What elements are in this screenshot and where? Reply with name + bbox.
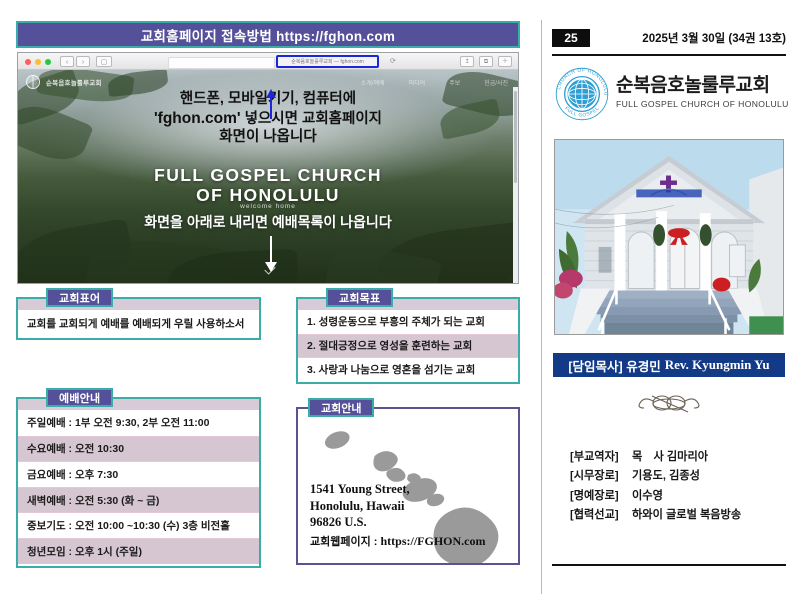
staff-row: [협력선교]하와이 글로벌 복음방송	[570, 506, 786, 525]
church-globe-logo-icon: CHURCH OF HONOLULU FULL GOSPEL	[554, 66, 610, 122]
nav-item[interactable]: 소개/예배	[361, 78, 385, 87]
goal-row: 2. 절대긍정으로 영성을 훈련하는 교회	[298, 334, 518, 358]
worship-row: 새벽예배 : 오전 5:30 (화 ~ 금)	[18, 487, 259, 513]
browser-scrollbar[interactable]	[513, 87, 518, 284]
nav-item[interactable]: 미디어	[409, 78, 426, 87]
worship-row: 금요예배 : 오후 7:30	[18, 461, 259, 487]
bulletin-page: 교회홈페이지 접속방법 https://fghon.com ‹ › ▢ 순복음호…	[0, 0, 792, 612]
senior-pastor-bar: [담임목사] 유경민Rev. Kyungmin Yu	[553, 353, 785, 377]
sidebar-icon[interactable]: ▢	[96, 56, 112, 67]
instruction-line-2-rest: 넣으시면 교회홈페이지	[241, 111, 382, 127]
maximize-traffic-light-icon[interactable]	[45, 59, 51, 65]
church-brand: CHURCH OF HONOLULU FULL GOSPEL 순복음호놀룰루교회…	[552, 64, 786, 122]
browser-screenshot: ‹ › ▢ 순복음호놀룰루교회 — fghon.com ⟳ ↥ ⧉ ＋	[17, 52, 519, 284]
senior-pastor-name-en: Rev. Kyungmin Yu	[665, 357, 770, 373]
instruction-line-3: 화면이 나옵니다	[18, 128, 518, 147]
church-motto-label-text: 교회표어	[59, 290, 100, 306]
bulletin-header: 25 2025년 3월 30일 (34권 13호)	[552, 29, 786, 49]
worship-row: 중보기도 : 오전 10:00 ~10:30 (수) 3층 비전홀	[18, 512, 259, 538]
url-text: 순복음호놀룰루교회 — fghon.com	[291, 58, 364, 65]
staff-name: 이수영	[632, 490, 663, 502]
worship-schedule-label-text: 예배안내	[59, 390, 100, 406]
church-building-photo	[554, 139, 784, 335]
header-rule	[552, 54, 786, 56]
footer-rule	[552, 564, 786, 566]
address-line-2: Honolulu, Hawaii	[310, 498, 410, 515]
worship-row: 주일예배 : 1부 오전 9:30, 2부 오전 11:00	[18, 410, 259, 436]
church-address: 1541 Young Street, Honolulu, Hawaii 9682…	[310, 481, 410, 531]
church-info-label: 교회안내	[308, 398, 374, 417]
worship-row: 청년모임 : 오후 1시 (주일)	[18, 538, 259, 564]
url-pointer-arrow-icon	[266, 89, 276, 119]
worship-schedule-label: 예배안내	[46, 388, 113, 407]
hero-scroll-note: 화면을 아래로 내리면 예배목록이 나옵니다	[18, 212, 518, 232]
staff-role: [협력선교]	[570, 506, 632, 525]
staff-role: [부교역자]	[570, 448, 632, 467]
church-brand-text: 순복음호놀룰루교회 FULL GOSPEL CHURCH OF HONOLULU	[616, 70, 789, 109]
staff-row: [시무장로]기용도, 김종성	[570, 467, 786, 486]
staff-row: [명예장로]이수영	[570, 487, 786, 506]
website-access-banner-text: 교회홈페이지 접속방법 https://fghon.com	[141, 25, 395, 45]
church-motto-rows: 교회를 교회되게 예배를 예배되게 우릴 사용하소서	[18, 310, 259, 338]
share-icon[interactable]: ↥	[460, 56, 474, 67]
church-website-line: 교회웹페이지 : https://FGHON.com	[310, 533, 486, 549]
church-name-english: FULL GOSPEL CHURCH OF HONOLULU	[616, 99, 789, 109]
website-logo-name: 순복음호놀룰루교회	[46, 77, 102, 87]
reload-icon[interactable]: ⟳	[390, 57, 396, 65]
church-info-label-text: 교회안내	[321, 400, 361, 416]
church-goals-box: 교회목표 1. 성령운동으로 부흥의 주체가 되는 교회 2. 절대긍정으로 영…	[296, 288, 520, 384]
staff-name: 목 사 김마리아	[632, 451, 708, 463]
browser-right-buttons: ↥ ⧉ ＋	[460, 56, 512, 67]
right-column: 25 2025년 3월 30일 (34권 13호)	[552, 0, 792, 612]
browser-chrome: ‹ › ▢ 순복음호놀룰루교회 — fghon.com ⟳ ↥ ⧉ ＋	[18, 53, 518, 70]
church-staff-list: [부교역자]목 사 김마리아 [시무장로]기용도, 김종성 [명예장로]이수영 …	[570, 448, 786, 525]
church-name-korean: 순복음호놀룰루교회	[616, 70, 789, 97]
issue-date: 2025년 3월 30일 (34권 13호)	[642, 30, 786, 46]
church-goals-rows: 1. 성령운동으로 부흥의 주체가 되는 교회 2. 절대긍정으로 영성을 훈련…	[298, 310, 518, 382]
worship-row: 수요예배 : 오전 10:30	[18, 436, 259, 462]
church-website-label: 교회웹페이지 :	[310, 536, 381, 548]
church-motto-box: 교회표어 교회를 교회되게 예배를 예배되게 우릴 사용하소서	[16, 288, 261, 340]
decorative-flourish-icon	[552, 392, 786, 418]
hero-welcome-text: welcome home	[18, 203, 518, 210]
new-tab-icon[interactable]: ＋	[498, 56, 512, 67]
worship-schedule-box: 예배안내 주일예배 : 1부 오전 9:30, 2부 오전 11:00 수요예배…	[16, 388, 261, 568]
left-column: 교회홈페이지 접속방법 https://fghon.com ‹ › ▢ 순복음호…	[0, 0, 536, 612]
website-nav: 순복음호놀룰루교회 소개/예배 미디어 주보 헌금/사진	[18, 74, 518, 90]
website-menu: 소개/예배 미디어 주보 헌금/사진	[361, 78, 508, 87]
minimize-traffic-light-icon[interactable]	[35, 59, 41, 65]
church-goals-label: 교회목표	[326, 288, 393, 307]
motto-row: 교회를 교회되게 예배를 예배되게 우릴 사용하소서	[18, 310, 259, 336]
address-line-3: 96826 U.S.	[310, 514, 410, 531]
worship-schedule-rows: 주일예배 : 1부 오전 9:30, 2부 오전 11:00 수요예배 : 오전…	[18, 410, 259, 566]
hero-church-title: FULL GOSPEL CHURCH OF HONOLULU	[18, 165, 518, 206]
church-website-url[interactable]: https://FGHON.com	[381, 534, 486, 548]
forward-icon[interactable]: ›	[76, 56, 90, 67]
page-number-text: 25	[564, 31, 577, 45]
goal-row: 3. 사랑과 나눔으로 영혼을 섬기는 교회	[298, 357, 518, 381]
column-divider	[541, 20, 542, 594]
staff-name: 기용도, 김종성	[632, 470, 700, 482]
nav-item[interactable]: 주보	[449, 78, 460, 87]
address-line-1: 1541 Young Street,	[310, 481, 410, 498]
url-address-bar[interactable]: 순복음호놀룰루교회 — fghon.com	[276, 55, 379, 68]
tabs-icon[interactable]: ⧉	[479, 56, 493, 67]
website-access-banner: 교회홈페이지 접속방법 https://fghon.com	[16, 21, 520, 48]
website-hero-section: 순복음호놀룰루교회 소개/예배 미디어 주보 헌금/사진 핸드폰, 모바일기기,…	[18, 70, 518, 284]
search-field[interactable]	[168, 57, 275, 69]
church-motto-label: 교회표어	[46, 288, 113, 307]
staff-role: [시무장로]	[570, 467, 632, 486]
nav-item[interactable]: 헌금/사진	[484, 78, 508, 87]
church-goals-label-text: 교회목표	[339, 290, 380, 306]
hero-title-line-1: FULL GOSPEL CHURCH	[18, 165, 518, 185]
staff-row: [부교역자]목 사 김마리아	[570, 448, 786, 467]
staff-name: 하와이 글로벌 복음방송	[632, 509, 741, 521]
scroll-down-arrow-icon	[269, 236, 273, 272]
domain-emphasis: 'fghon.com'	[154, 110, 241, 127]
goal-row: 1. 성령운동으로 부흥의 주체가 되는 교회	[298, 310, 518, 334]
page-number-badge: 25	[552, 29, 590, 47]
staff-role: [명예장로]	[570, 487, 632, 506]
church-info-box: 1541 Young Street, Honolulu, Hawaii 9682…	[296, 398, 520, 565]
back-icon[interactable]: ‹	[60, 56, 74, 67]
senior-pastor-title: [담임목사] 유경민	[568, 356, 660, 375]
globe-logo-icon	[26, 75, 40, 89]
close-traffic-light-icon[interactable]	[25, 59, 31, 65]
